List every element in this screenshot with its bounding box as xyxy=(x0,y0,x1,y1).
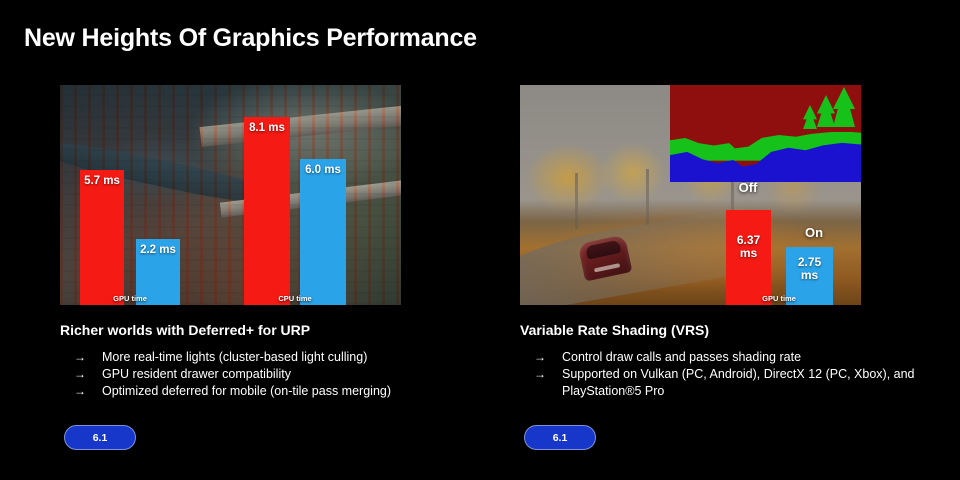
list-item: → GPU resident drawer compatibility xyxy=(74,366,480,383)
list-item-label: GPU resident drawer compatibility xyxy=(102,366,480,383)
bar-value-unit: ms xyxy=(801,268,818,282)
version-badge-label: 6.1 xyxy=(553,432,568,444)
right-feature-column: Off 6.37 ms On 2.75 ms GPU time Variable… xyxy=(520,85,940,400)
arrow-right-icon: → xyxy=(74,383,85,400)
list-item: → Control draw calls and passes shading … xyxy=(534,349,940,366)
axis-label-gpu-time: GPU time xyxy=(726,294,832,303)
bar-value-label: 2.75 ms xyxy=(786,256,833,281)
bar-value-label: 8.1 ms xyxy=(244,122,290,134)
bar-value-label: 2.2 ms xyxy=(136,244,180,256)
arrow-right-icon: → xyxy=(534,366,545,400)
series-label-off: Off xyxy=(716,180,780,195)
list-item: → Supported on Vulkan (PC, Android), Dir… xyxy=(534,366,940,400)
bar-rect xyxy=(80,170,124,305)
arrow-right-icon: → xyxy=(74,366,85,383)
bar-value-label: 5.7 ms xyxy=(80,175,124,187)
bar-value-unit: ms xyxy=(740,246,757,260)
arrow-right-icon: → xyxy=(534,349,545,366)
list-item-label: Optimized deferred for mobile (on-tile p… xyxy=(102,383,480,400)
list-item-label: Control draw calls and passes shading ra… xyxy=(562,349,940,366)
bar-cpu-deferred: 6.0 ms xyxy=(300,159,346,305)
list-item: → More real-time lights (cluster-based l… xyxy=(74,349,480,366)
vrs-benchmark-chart: Off 6.37 ms On 2.75 ms GPU time xyxy=(520,85,861,305)
bar-chart-bars: 5.7 ms 2.2 ms GPU time 8.1 ms 6.0 ms CPU… xyxy=(60,85,401,305)
deferred-plus-benchmark-chart: 5.7 ms 2.2 ms GPU time 8.1 ms 6.0 ms CPU… xyxy=(60,85,401,305)
left-bullet-list: → More real-time lights (cluster-based l… xyxy=(60,349,480,400)
arrow-right-icon: → xyxy=(74,349,85,366)
version-badge-left[interactable]: 6.1 xyxy=(64,425,136,450)
bar-cpu-forward: 8.1 ms xyxy=(244,117,290,305)
list-item-label: More real-time lights (cluster-based lig… xyxy=(102,349,480,366)
bar-rect xyxy=(300,159,346,305)
list-item: → Optimized deferred for mobile (on-tile… xyxy=(74,383,480,400)
bar-chart-bars: Off 6.37 ms On 2.75 ms GPU time xyxy=(520,85,861,305)
axis-label-gpu-time: GPU time xyxy=(80,294,180,303)
left-feature-column: 5.7 ms 2.2 ms GPU time 8.1 ms 6.0 ms CPU… xyxy=(60,85,480,400)
bar-value-label: 6.37 ms xyxy=(726,234,771,259)
right-bullet-list: → Control draw calls and passes shading … xyxy=(520,349,940,400)
left-section-heading: Richer worlds with Deferred+ for URP xyxy=(60,322,480,338)
series-label-on: On xyxy=(782,225,846,240)
right-section-heading: Variable Rate Shading (VRS) xyxy=(520,322,940,338)
list-item-label: Supported on Vulkan (PC, Android), Direc… xyxy=(562,366,940,400)
bar-vrs-off: 6.37 ms xyxy=(726,210,771,305)
axis-label-cpu-time: CPU time xyxy=(244,294,346,303)
bar-value-label: 6.0 ms xyxy=(300,164,346,176)
bar-gpu-forward: 5.7 ms xyxy=(80,170,124,305)
version-badge-right[interactable]: 6.1 xyxy=(524,425,596,450)
version-badge-label: 6.1 xyxy=(93,432,108,444)
bar-rect xyxy=(244,117,290,305)
page-title: New Heights Of Graphics Performance xyxy=(24,24,477,53)
